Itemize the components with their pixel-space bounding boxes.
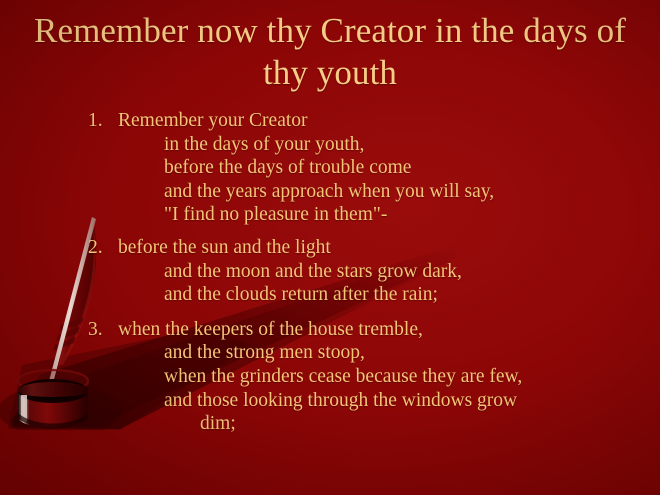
list-item-subline: and the clouds return after the rain;	[164, 283, 654, 307]
presentation-slide: Remember now thy Creator in the days of …	[0, 0, 660, 495]
list-item-number: 1.	[88, 109, 118, 133]
list-item-subline: and those looking through the windows gr…	[164, 389, 654, 413]
list-item-heading: when the keepers of the house tremble,	[118, 318, 654, 342]
list-item-subline: and the strong men stoop,	[164, 341, 654, 365]
list-item-subline: before the days of trouble come	[164, 156, 654, 180]
list-item-heading: Remember your Creator	[118, 109, 654, 133]
list-item-subline: "I find no pleasure in them"-	[164, 203, 654, 227]
list-item-subline-continued: dim;	[200, 412, 654, 436]
list-item-number: 2.	[88, 236, 118, 260]
list-item: 2. before the sun and the light and the …	[88, 236, 654, 307]
list-item-heading: before the sun and the light	[118, 236, 654, 260]
list-item-number: 3.	[88, 318, 118, 342]
list-item-subline: in the days of your youth,	[164, 133, 654, 157]
slide-title-line-1: Remember now thy Creator in the days of	[20, 10, 640, 52]
list-item-subline: when the grinders cease because they are…	[164, 365, 654, 389]
slide-body-list: 1. Remember your Creator in the days of …	[88, 109, 654, 442]
list-item-heading-row: 2. before the sun and the light	[88, 236, 654, 260]
slide-title-line-2: thy youth	[20, 52, 640, 94]
list-item-subline: and the moon and the stars grow dark,	[164, 260, 654, 284]
list-item: 1. Remember your Creator in the days of …	[88, 109, 654, 227]
slide-title: Remember now thy Creator in the days of …	[20, 10, 640, 94]
list-item-subline: and the years approach when you will say…	[164, 180, 654, 204]
list-item: 3. when the keepers of the house tremble…	[88, 318, 654, 436]
list-item-heading-row: 1. Remember your Creator	[88, 109, 654, 133]
list-item-heading-row: 3. when the keepers of the house tremble…	[88, 318, 654, 342]
